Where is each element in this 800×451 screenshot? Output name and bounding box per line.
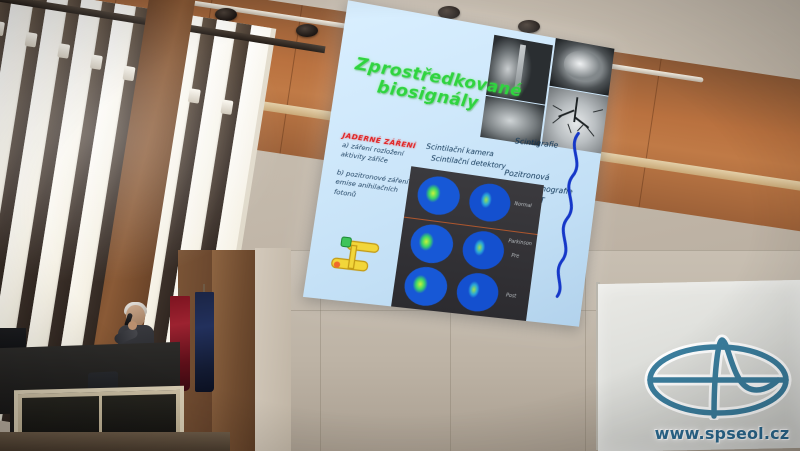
ceiling-spotlight	[296, 24, 318, 37]
floor-strip	[0, 432, 230, 451]
scan-row-label-normal: Normal	[514, 201, 532, 209]
wooden-door-panel	[212, 250, 258, 451]
presentation-slide: Zprostředkované biosignály JADERNÉ ZÁŘEN…	[303, 0, 615, 326]
presenter-hand	[128, 321, 137, 330]
lecture-hall-photo: Zprostředkované biosignály JADERNÉ ZÁŘEN…	[0, 0, 800, 451]
blue-squiggle-icon	[545, 130, 591, 300]
scan-row-label-post: Post	[506, 293, 517, 300]
eu-flag	[195, 292, 214, 392]
scan-row-label-parkinson: Parkinson	[508, 238, 532, 247]
wall-pillar	[255, 248, 291, 451]
scan-row-label-pre: Pre	[511, 253, 520, 260]
website-watermark: www.spseol.cz	[646, 424, 798, 443]
scanner-clipart-icon	[326, 232, 386, 280]
pet-scan-grid: Normal Parkinson Pre Post	[391, 166, 544, 321]
projection-screen: Zprostředkované biosignály JADERNÉ ZÁŘEN…	[327, 21, 605, 313]
spseol-logo-icon	[636, 328, 800, 420]
